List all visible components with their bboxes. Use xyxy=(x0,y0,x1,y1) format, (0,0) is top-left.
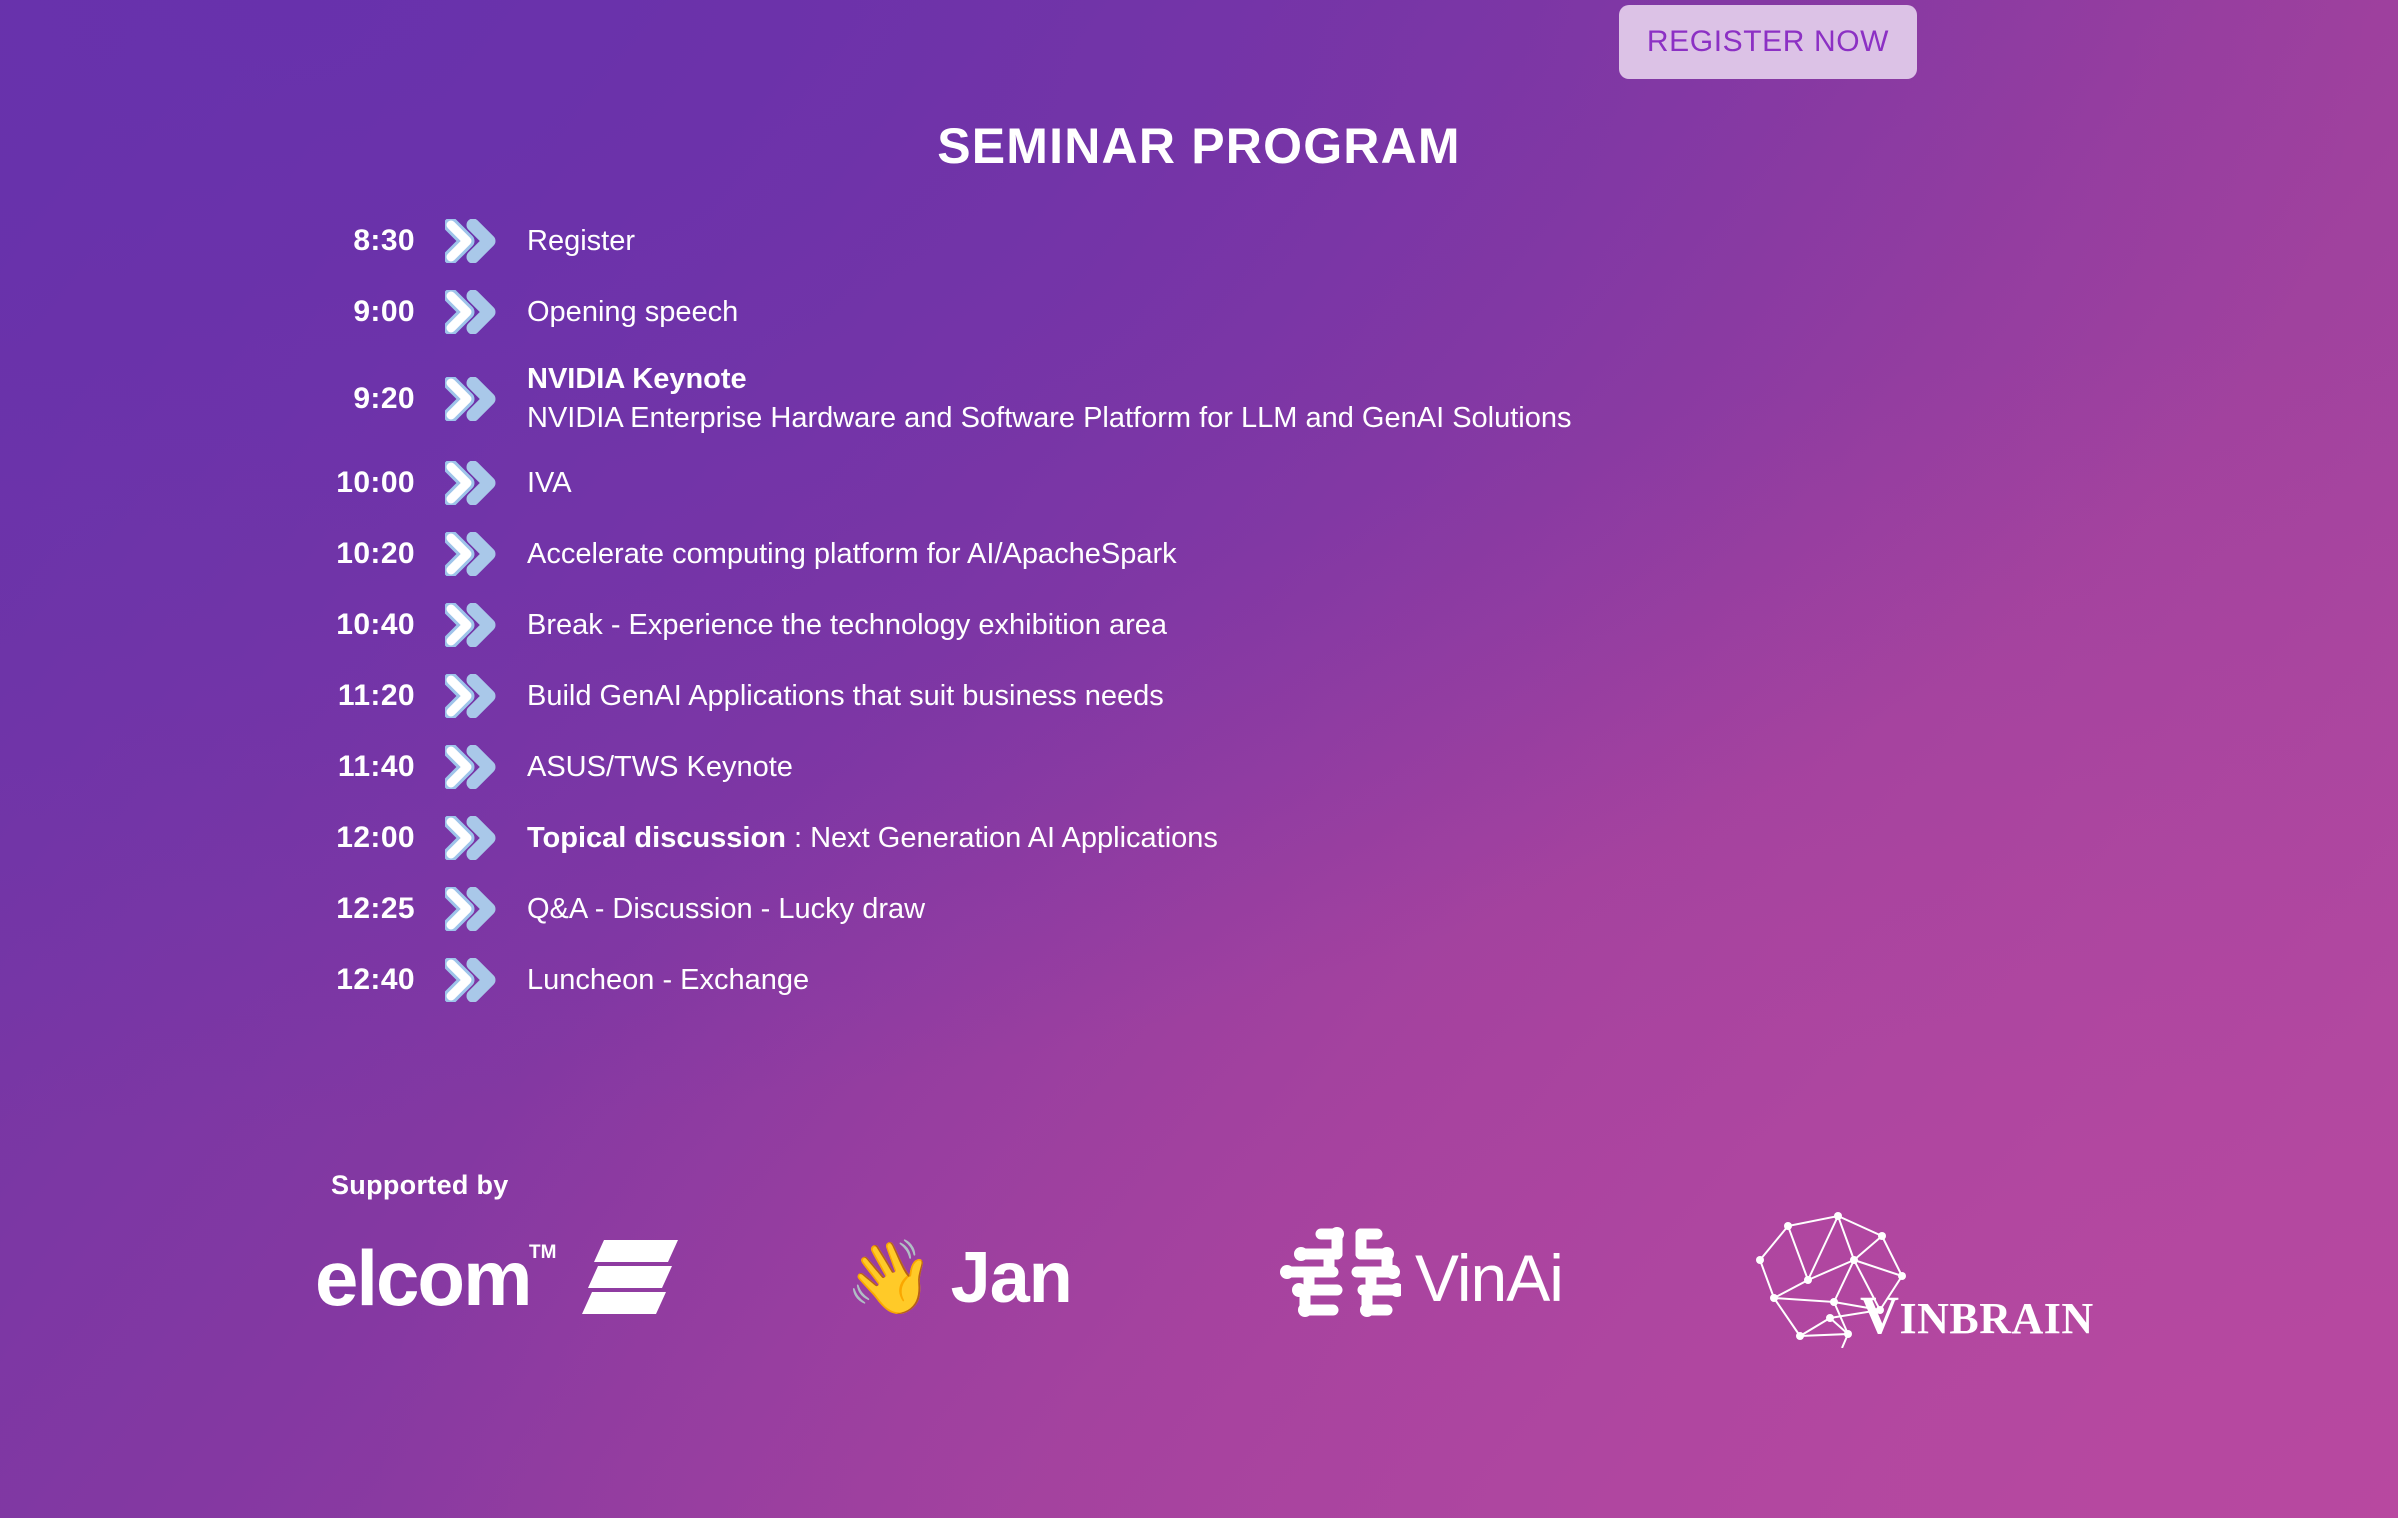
jan-wordmark: Jan xyxy=(951,1237,1072,1319)
sponsor-logo-strip: elcom TM 👋 Jan xyxy=(300,1218,2130,1338)
double-chevron-icon xyxy=(415,461,527,505)
vinai-node-mark-icon xyxy=(1275,1220,1401,1337)
double-chevron-icon xyxy=(415,377,527,421)
schedule-time: 10:00 xyxy=(0,466,415,500)
double-chevron-icon xyxy=(415,219,527,263)
schedule-time: 9:20 xyxy=(0,382,415,416)
schedule-list: 8:30Register9:00Opening speech9:20NVIDIA… xyxy=(0,218,2398,1028)
vinbrain-word-rest: INBRAIN xyxy=(1900,1294,2094,1343)
double-chevron-icon xyxy=(415,816,527,860)
schedule-item-title-rest: : Next Generation AI Applications xyxy=(786,822,1218,854)
schedule-row: 11:20Build GenAI Applications that suit … xyxy=(0,673,2398,719)
schedule-row: 12:40Luncheon - Exchange xyxy=(0,957,2398,1003)
schedule-description: ASUS/TWS Keynote xyxy=(527,748,2398,787)
double-chevron-icon xyxy=(415,745,527,789)
double-chevron-icon xyxy=(415,887,527,931)
schedule-row: 9:00Opening speech xyxy=(0,289,2398,335)
schedule-item-subtitle: NVIDIA Enterprise Hardware and Software … xyxy=(527,399,2398,438)
schedule-description: Register xyxy=(527,222,2398,261)
schedule-item-title: Build GenAI Applications that suit busin… xyxy=(527,680,1164,712)
logo-jan[interactable]: 👋 Jan xyxy=(845,1218,1072,1338)
elcom-e-mark-icon xyxy=(578,1236,678,1321)
logo-elcom[interactable]: elcom TM xyxy=(315,1218,678,1338)
schedule-time: 10:20 xyxy=(0,537,415,571)
seminar-program-page: REGISTER NOW SEMINAR PROGRAM 8:30Registe… xyxy=(0,0,2398,1518)
schedule-description: Accelerate computing platform for AI/Apa… xyxy=(527,535,2398,574)
schedule-item-title: Opening speech xyxy=(527,296,738,328)
waving-hand-icon: 👋 xyxy=(845,1242,935,1314)
schedule-description: Luncheon - Exchange xyxy=(527,961,2398,1000)
schedule-description: NVIDIA KeynoteNVIDIA Enterprise Hardware… xyxy=(527,360,2398,438)
double-chevron-icon xyxy=(415,674,527,718)
schedule-row: 10:00IVA xyxy=(0,460,2398,506)
logo-vinai[interactable]: VinAi xyxy=(1275,1218,1563,1338)
vinbrain-wordmark: VINBRAIN xyxy=(1860,1284,2094,1346)
schedule-item-title: Accelerate computing platform for AI/Apa… xyxy=(527,538,1177,570)
schedule-time: 12:40 xyxy=(0,963,415,997)
vinbrain-word-cap: V xyxy=(1860,1285,1900,1345)
schedule-description: Opening speech xyxy=(527,293,2398,332)
schedule-row: 8:30Register xyxy=(0,218,2398,264)
elcom-trademark-symbol: TM xyxy=(529,1243,556,1262)
schedule-item-title: IVA xyxy=(527,467,572,499)
schedule-row: 11:40ASUS/TWS Keynote xyxy=(0,744,2398,790)
schedule-time: 10:40 xyxy=(0,608,415,642)
schedule-description: Topical discussion : Next Generation AI … xyxy=(527,819,2398,858)
schedule-time: 11:20 xyxy=(0,679,415,713)
schedule-row: 10:40Break - Experience the technology e… xyxy=(0,602,2398,648)
double-chevron-icon xyxy=(415,290,527,334)
schedule-description: Q&A - Discussion - Lucky draw xyxy=(527,890,2398,929)
schedule-item-title: Register xyxy=(527,225,635,257)
schedule-item-title: ASUS/TWS Keynote xyxy=(527,751,793,783)
double-chevron-icon xyxy=(415,958,527,1002)
supported-by-label: Supported by xyxy=(331,1170,509,1201)
schedule-item-title: Luncheon - Exchange xyxy=(527,964,809,996)
schedule-description: Break - Experience the technology exhibi… xyxy=(527,606,2398,645)
schedule-time: 12:00 xyxy=(0,821,415,855)
elcom-wordmark: elcom TM xyxy=(315,1239,530,1317)
logo-vinbrain[interactable]: VINBRAIN xyxy=(1730,1198,2070,1348)
vinai-wordmark: VinAi xyxy=(1415,1240,1563,1316)
schedule-item-title: Break - Experience the technology exhibi… xyxy=(527,609,1167,641)
schedule-item-title: NVIDIA Keynote xyxy=(527,363,747,395)
register-now-button[interactable]: REGISTER NOW xyxy=(1619,5,1917,79)
schedule-row: 9:20NVIDIA KeynoteNVIDIA Enterprise Hard… xyxy=(0,360,2398,438)
elcom-word-text: elcom xyxy=(315,1234,530,1322)
schedule-time: 11:40 xyxy=(0,750,415,784)
double-chevron-icon xyxy=(415,603,527,647)
schedule-item-title: Topical discussion xyxy=(527,822,786,854)
schedule-description: IVA xyxy=(527,464,2398,503)
schedule-row: 10:20Accelerate computing platform for A… xyxy=(0,531,2398,577)
schedule-item-title: Q&A - Discussion - Lucky draw xyxy=(527,893,925,925)
schedule-row: 12:00Topical discussion : Next Generatio… xyxy=(0,815,2398,861)
schedule-time: 12:25 xyxy=(0,892,415,926)
schedule-row: 12:25Q&A - Discussion - Lucky draw xyxy=(0,886,2398,932)
double-chevron-icon xyxy=(415,532,527,576)
schedule-description: Build GenAI Applications that suit busin… xyxy=(527,677,2398,716)
schedule-time: 9:00 xyxy=(0,295,415,329)
page-title: SEMINAR PROGRAM xyxy=(0,117,2398,175)
schedule-time: 8:30 xyxy=(0,224,415,258)
